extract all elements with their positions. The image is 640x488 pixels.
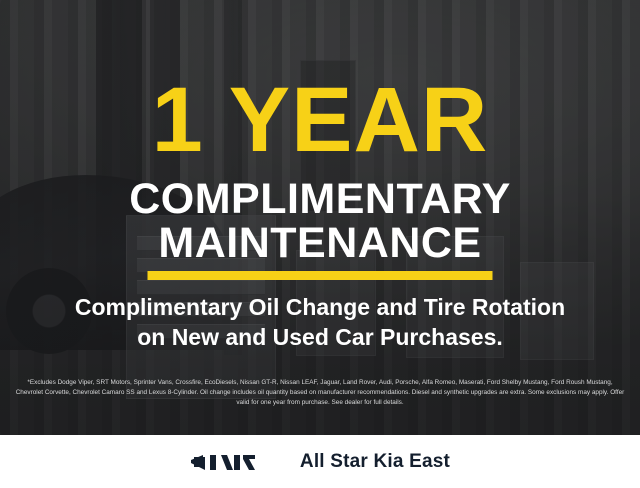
promotional-banner: 1 YEAR COMPLIMENTARY MAINTENANCE Complim… bbox=[0, 0, 640, 488]
yellow-divider-bar bbox=[148, 271, 493, 280]
disclaimer-text: *Excludes Dodge Viper, SRT Motors, Sprin… bbox=[14, 378, 626, 408]
headline-complimentary: COMPLIMENTARY bbox=[0, 178, 640, 221]
tagline: Complimentary Oil Change and Tire Rotati… bbox=[0, 292, 640, 352]
headline-year: 1 YEAR bbox=[0, 74, 640, 166]
headline-maintenance: MAINTENANCE bbox=[0, 222, 640, 265]
dealer-name: All Star Kia East bbox=[300, 451, 450, 473]
tagline-line-2: on New and Used Car Purchases. bbox=[0, 322, 640, 352]
hero-section: 1 YEAR COMPLIMENTARY MAINTENANCE Complim… bbox=[0, 0, 640, 435]
kia-logo bbox=[190, 450, 278, 474]
tagline-line-1: Complimentary Oil Change and Tire Rotati… bbox=[0, 292, 640, 322]
banner-content: 1 YEAR COMPLIMENTARY MAINTENANCE Complim… bbox=[0, 0, 640, 435]
footer-bar: All Star Kia East bbox=[0, 435, 640, 488]
